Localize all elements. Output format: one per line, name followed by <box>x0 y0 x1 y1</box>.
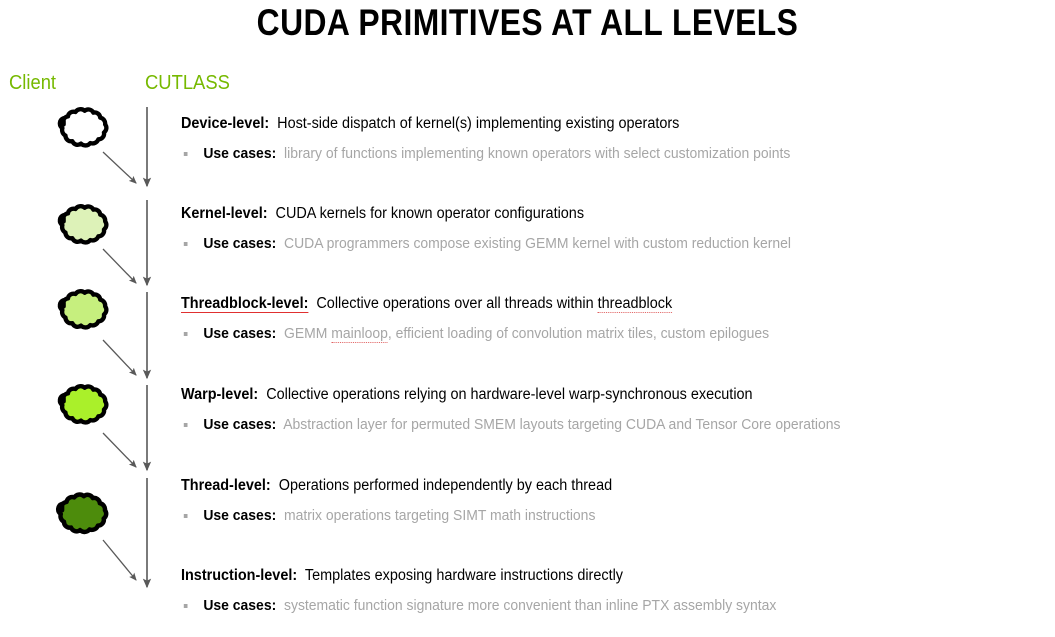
level-row-warp: Warp-level: Collective operations relyin… <box>181 385 1055 434</box>
level-name: Warp-level: <box>181 386 258 403</box>
level-heading: Thread-level: Operations performed indep… <box>181 476 994 495</box>
client-clouds <box>58 109 106 532</box>
level-heading: Instruction-level: Templates exposing ha… <box>181 566 994 585</box>
client-cloud-2 <box>60 206 106 242</box>
client-cloud-1 <box>60 109 106 145</box>
use-cases-label: Use cases: <box>203 416 276 433</box>
level-name: Kernel-level: <box>181 205 268 222</box>
level-heading: Kernel-level: CUDA kernels for known ope… <box>181 204 994 223</box>
bullet-icon <box>184 604 188 608</box>
level-use-case: Use cases: CUDA programmers compose exis… <box>181 234 994 253</box>
bullet-icon <box>184 423 188 427</box>
use-case-text: CUDA programmers compose existing GEMM k… <box>280 235 791 252</box>
level-name: Instruction-level: <box>181 567 297 584</box>
use-cases-label: Use cases: <box>203 325 276 342</box>
use-cases-label: Use cases: <box>203 145 276 162</box>
diagonal-arrow-5 <box>103 540 136 580</box>
client-cloud-3 <box>60 291 106 327</box>
use-case-text: library of functions implementing known … <box>280 145 790 162</box>
level-description: CUDA kernels for known operator configur… <box>272 205 584 222</box>
bullet-icon <box>184 242 188 246</box>
level-description: Host-side dispatch of kernel(s) implemen… <box>273 115 679 132</box>
diagonal-arrow-4 <box>103 433 136 467</box>
client-cloud-4 <box>60 386 106 422</box>
bullet-icon <box>184 332 188 336</box>
use-cases-label: Use cases: <box>203 507 276 524</box>
diagonal-arrow-1 <box>103 152 136 183</box>
level-heading: Warp-level: Collective operations relyin… <box>181 385 994 404</box>
diagonal-arrow-2 <box>103 249 136 283</box>
level-row-device: Device-level: Host-side dispatch of kern… <box>181 114 1055 163</box>
level-row-thread: Thread-level: Operations performed indep… <box>181 476 1055 525</box>
level-heading: Threadblock-level: Collective operations… <box>181 294 994 313</box>
level-row-instruction: Instruction-level: Templates exposing ha… <box>181 566 1055 615</box>
level-use-case: Use cases: matrix operations targeting S… <box>181 506 994 525</box>
bullet-icon <box>184 152 188 156</box>
use-case-text: systematic function signature more conve… <box>280 597 776 614</box>
bullet-icon <box>184 514 188 518</box>
level-row-kernel: Kernel-level: CUDA kernels for known ope… <box>181 204 1055 253</box>
level-description: Collective operations relying on hardwar… <box>262 386 752 403</box>
level-use-case: Use cases: Abstraction layer for permute… <box>181 415 994 434</box>
diagonal-arrow-3 <box>103 340 136 375</box>
level-heading: Device-level: Host-side dispatch of kern… <box>181 114 994 133</box>
level-name: Threadblock-level: <box>181 295 308 313</box>
use-case-text: Abstraction layer for permuted SMEM layo… <box>280 416 840 433</box>
level-use-case: Use cases: GEMM mainloop, efficient load… <box>181 324 994 343</box>
level-use-case: Use cases: systematic function signature… <box>181 596 994 615</box>
use-cases-label: Use cases: <box>203 597 276 614</box>
level-name: Thread-level: <box>181 477 271 494</box>
use-case-text: matrix operations targeting SIMT math in… <box>280 507 595 524</box>
level-description: Collective operations over all threads w… <box>312 295 672 313</box>
level-row-threadblock: Threadblock-level: Collective operations… <box>181 294 1055 343</box>
client-cloud-5 <box>58 495 106 532</box>
level-list: Device-level: Host-side dispatch of kern… <box>181 0 1055 637</box>
level-description: Operations performed independently by ea… <box>275 477 612 494</box>
use-cases-label: Use cases: <box>203 235 276 252</box>
use-case-text: GEMM mainloop, efficient loading of conv… <box>280 325 769 343</box>
level-name: Device-level: <box>181 115 269 132</box>
level-use-case: Use cases: library of functions implemen… <box>181 144 994 163</box>
level-description: Templates exposing hardware instructions… <box>301 567 623 584</box>
client-cutlass-flow-diagram <box>0 0 180 637</box>
